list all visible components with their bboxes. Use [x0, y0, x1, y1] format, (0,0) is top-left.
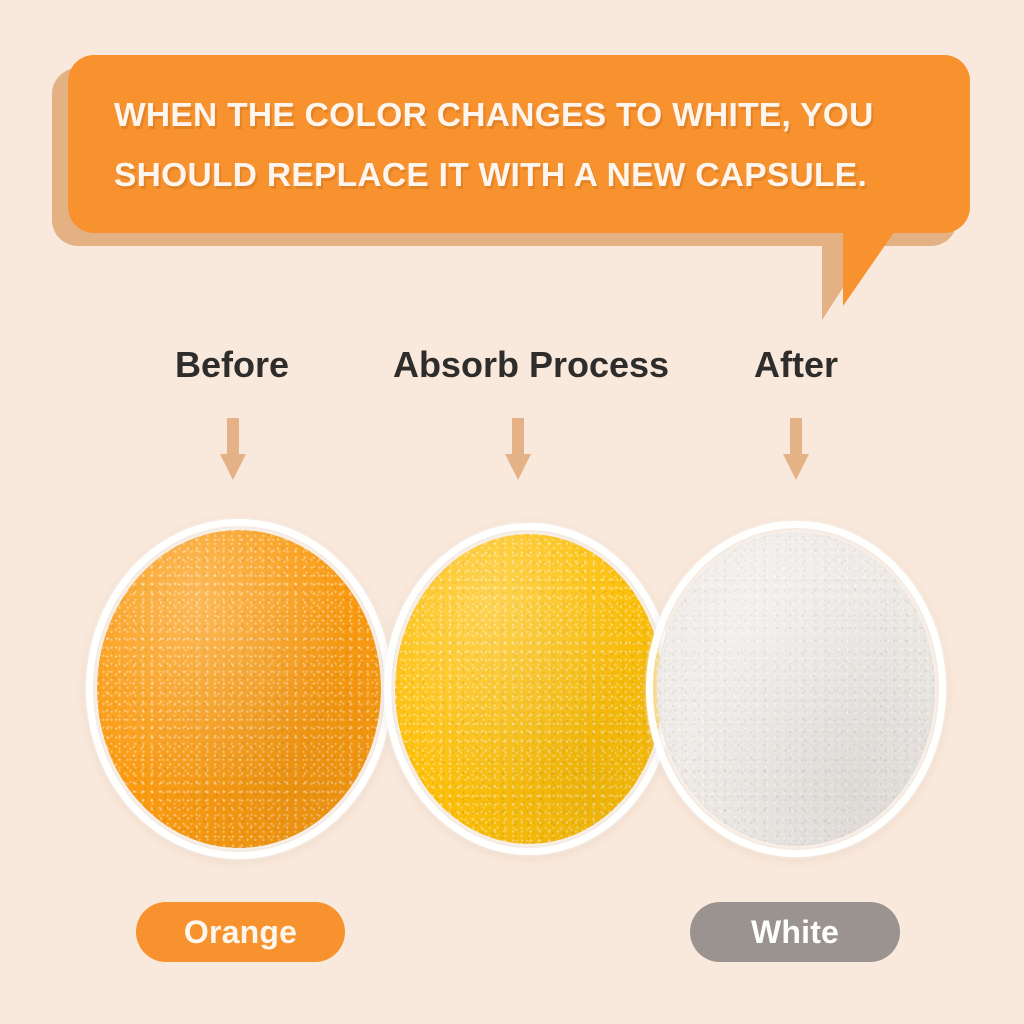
instruction-line-1: WHEN THE COLOR CHANGES TO WHITE, YOU	[114, 86, 934, 146]
instruction-speech-bubble: WHEN THE COLOR CHANGES TO WHITE, YOU SHO…	[52, 52, 972, 302]
arrow-down-icon	[783, 418, 809, 480]
instruction-text: WHEN THE COLOR CHANGES TO WHITE, YOU SHO…	[114, 86, 934, 206]
dish-rim	[86, 519, 392, 859]
dish-rim	[646, 521, 946, 857]
arrow-shaft	[227, 418, 239, 456]
badge-white: White	[690, 902, 900, 962]
stage-label-before: Before	[175, 344, 289, 386]
arrow-shaft	[790, 418, 802, 456]
instruction-line-2: SHOULD REPLACE IT WITH A NEW CAPSULE.	[114, 146, 934, 206]
speech-bubble-tail-icon	[843, 228, 897, 306]
arrow-down-icon	[505, 418, 531, 480]
petri-dish-after	[646, 521, 946, 857]
arrow-shaft	[512, 418, 524, 456]
arrow-down-icon	[220, 418, 246, 480]
petri-dish-absorb-process	[384, 523, 674, 855]
petri-dish-before	[86, 519, 392, 859]
dish-rim	[384, 523, 674, 855]
arrow-head	[783, 454, 809, 480]
infographic-canvas: WHEN THE COLOR CHANGES TO WHITE, YOU SHO…	[0, 0, 1024, 1024]
stage-label-absorb-process: Absorb Process	[393, 344, 669, 386]
badge-orange: Orange	[136, 902, 345, 962]
arrow-head	[220, 454, 246, 480]
stage-label-after: After	[754, 344, 838, 386]
arrow-head	[505, 454, 531, 480]
